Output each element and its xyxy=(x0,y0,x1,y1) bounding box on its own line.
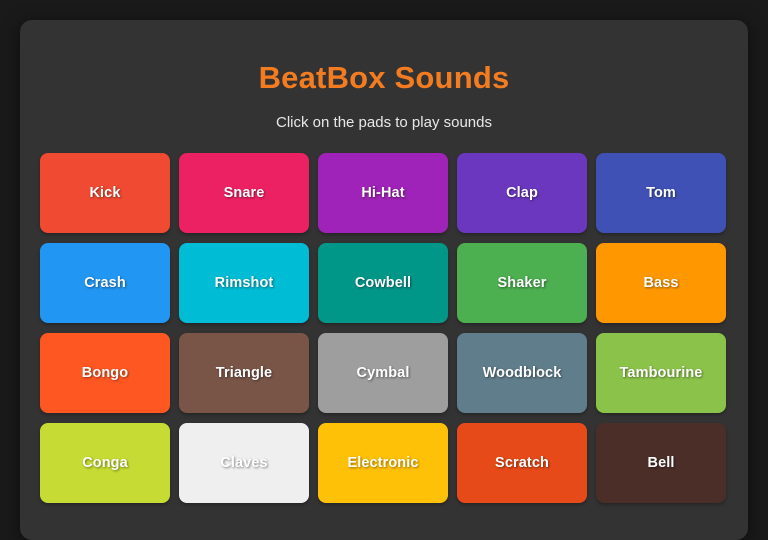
sound-pad-label: Cowbell xyxy=(355,275,411,291)
sound-pad-bell[interactable]: Bell xyxy=(596,423,726,503)
sound-pad-claves[interactable]: Claves xyxy=(179,423,309,503)
sound-pad-kick[interactable]: Kick xyxy=(40,153,170,233)
sound-pad-label: Bell xyxy=(648,455,675,471)
sound-pad-label: Claves xyxy=(220,455,267,471)
sound-pad-label: Bass xyxy=(643,275,678,291)
sound-pad-grid: KickSnareHi-HatClapTomCrashRimshotCowbel… xyxy=(40,153,728,503)
sound-pad-label: Scratch xyxy=(495,455,549,471)
sound-pad-label: Electronic xyxy=(347,455,418,471)
sound-pad-tom[interactable]: Tom xyxy=(596,153,726,233)
sound-pad-bongo[interactable]: Bongo xyxy=(40,333,170,413)
sound-pad-label: Crash xyxy=(84,275,126,291)
sound-pad-tambourine[interactable]: Tambourine xyxy=(596,333,726,413)
sound-pad-label: Rimshot xyxy=(215,275,274,291)
sound-pad-label: Tom xyxy=(646,185,676,201)
sound-pad-label: Triangle xyxy=(216,365,272,381)
sound-pad-label: Tambourine xyxy=(620,365,703,381)
sound-pad-label: Shaker xyxy=(498,275,547,291)
sound-pad-conga[interactable]: Conga xyxy=(40,423,170,503)
sound-pad-crash[interactable]: Crash xyxy=(40,243,170,323)
sound-pad-bass[interactable]: Bass xyxy=(596,243,726,323)
sound-pad-cowbell[interactable]: Cowbell xyxy=(318,243,448,323)
sound-pad-woodblock[interactable]: Woodblock xyxy=(457,333,587,413)
page-title: BeatBox Sounds xyxy=(20,60,748,96)
sound-pad-shaker[interactable]: Shaker xyxy=(457,243,587,323)
sound-pad-electronic[interactable]: Electronic xyxy=(318,423,448,503)
sound-pad-hi-hat[interactable]: Hi-Hat xyxy=(318,153,448,233)
sound-pad-label: Clap xyxy=(506,185,538,201)
page-subtitle: Click on the pads to play sounds xyxy=(20,114,748,131)
sound-pad-label: Hi-Hat xyxy=(361,185,404,201)
sound-pad-cymbal[interactable]: Cymbal xyxy=(318,333,448,413)
sound-pad-label: Kick xyxy=(89,185,120,201)
sound-pad-snare[interactable]: Snare xyxy=(179,153,309,233)
sound-pad-label: Bongo xyxy=(82,365,128,381)
sound-pad-clap[interactable]: Clap xyxy=(457,153,587,233)
sound-pad-scratch[interactable]: Scratch xyxy=(457,423,587,503)
sound-pad-label: Cymbal xyxy=(357,365,410,381)
sound-pad-label: Woodblock xyxy=(483,365,562,381)
sound-pad-label: Conga xyxy=(82,455,128,471)
sound-pad-triangle[interactable]: Triangle xyxy=(179,333,309,413)
sound-pad-label: Snare xyxy=(224,185,265,201)
beatbox-panel: BeatBox Sounds Click on the pads to play… xyxy=(20,20,748,540)
sound-pad-rimshot[interactable]: Rimshot xyxy=(179,243,309,323)
